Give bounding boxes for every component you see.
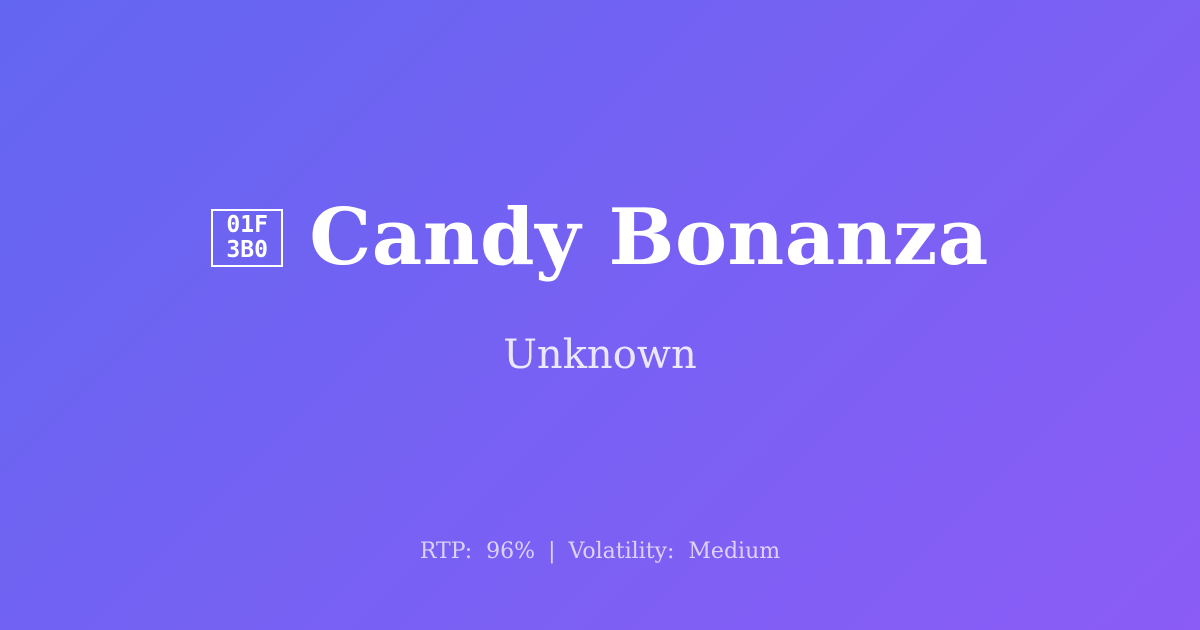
volatility-value: Medium	[688, 539, 780, 564]
rtp-value: 96%	[486, 539, 535, 564]
title-row: 01F 3B0 Candy Bonanza	[211, 197, 989, 279]
volatility-label: Volatility:	[569, 539, 675, 564]
tofu-codepoint-top: 01F	[226, 213, 268, 238]
hero-block: 01F 3B0 Candy Bonanza Unknown	[0, 0, 1200, 630]
page-title: Candy Bonanza	[309, 197, 989, 279]
tofu-codepoint-bottom: 3B0	[226, 238, 268, 263]
slot-machine-icon: 01F 3B0	[211, 209, 283, 267]
game-preview-card: 01F 3B0 Candy Bonanza Unknown RTP: 96% |…	[0, 0, 1200, 630]
game-stats-line: RTP: 96% | Volatility: Medium	[0, 538, 1200, 566]
rtp-label: RTP:	[420, 539, 472, 564]
provider-subtitle: Unknown	[503, 331, 697, 379]
stats-separator: |	[542, 539, 561, 564]
